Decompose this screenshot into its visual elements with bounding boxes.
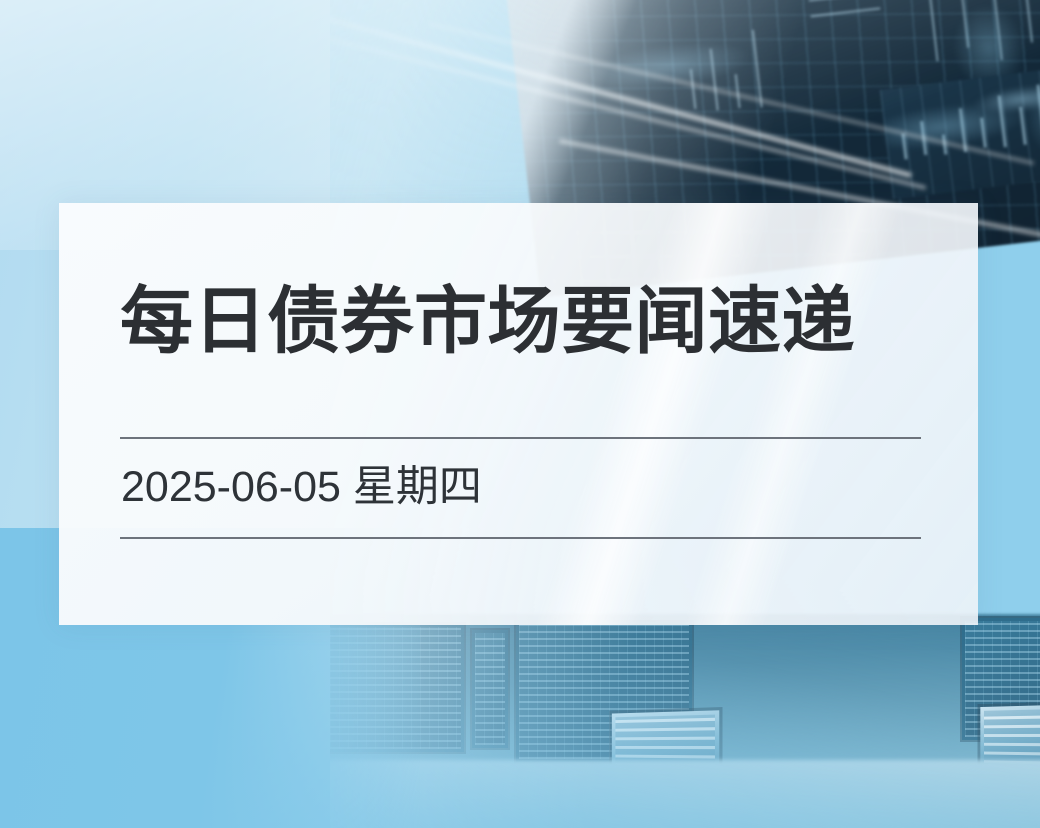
divider-top (120, 437, 921, 439)
title-card-content: 每日债券市场要闻速递 2025-06-05 星期四 (120, 203, 920, 625)
divider-bottom (120, 537, 921, 539)
date-label: 2025-06-05 星期四 (121, 466, 482, 509)
title-card: 每日债券市场要闻速递 2025-06-05 星期四 (59, 203, 978, 625)
title-slide: 每日债券市场要闻速递 2025-06-05 星期四 (0, 0, 1040, 828)
page-title: 每日债券市场要闻速递 (120, 285, 855, 358)
